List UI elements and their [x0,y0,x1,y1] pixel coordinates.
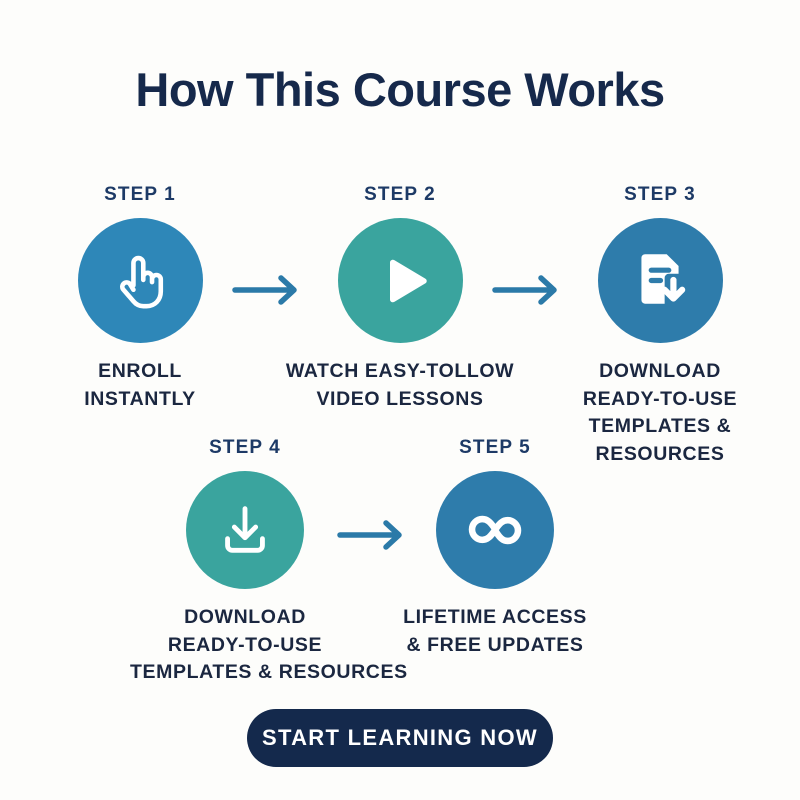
caption-line: ENROLL [25,358,255,386]
caption-line: TEMPLATES & RESOURCES [130,659,360,687]
step-caption-5: LIFETIME ACCESS & FREE UPDATES [380,604,610,659]
step-caption-1: ENROLL INSTANTLY [25,358,255,413]
step-label-3: STEP 3 [545,184,775,206]
step-label-1: STEP 1 [25,184,255,206]
step-label-2: STEP 2 [285,184,515,206]
caption-line: WATCH EASY-TOLLOW [285,358,515,386]
step-caption-2: WATCH EASY-TOLLOW VIDEO LESSONS [285,358,515,413]
page-title: How This Course Works [0,62,800,117]
step-caption-4: DOWNLOAD READY-TO-USE TEMPLATES & RESOUR… [130,604,360,687]
step-item-1: STEP 1 ENROLL INSTANTLY [25,184,255,413]
infinity-icon [460,495,530,565]
caption-line: VIDEO LESSONS [285,386,515,414]
infographic-canvas: How This Course Works STEP 1 ENROLL INST… [0,0,800,800]
step-label-5: STEP 5 [380,437,610,459]
step-item-5: STEP 5 LIFETIME ACCESS & FREE UPDATES [380,437,610,659]
arrow-step4-to-step5 [336,518,414,552]
caption-line: INSTANTLY [25,386,255,414]
play-icon [368,249,432,313]
caption-line: & FREE UPDATES [380,632,610,660]
arrow-step2-to-step3 [491,273,569,307]
caption-line: DOWNLOAD [130,604,360,632]
arrow-step1-to-step2 [231,273,309,307]
step-item-4: STEP 4 DOWNLOAD READY-TO-USE TEMPLATES &… [130,437,360,687]
caption-line: DOWNLOAD [545,358,775,386]
step-label-4: STEP 4 [130,437,360,459]
caption-line: LIFETIME ACCESS [380,604,610,632]
caption-line: READY-TO-USE [130,632,360,660]
step-item-2: STEP 2 WATCH EASY-TOLLOW VIDEO LESSONS [285,184,515,413]
download-tray-icon [214,499,276,561]
step-icon-circle-3 [598,218,723,343]
step-icon-circle-1 [78,218,203,343]
caption-line: READY-TO-USE [545,386,775,414]
step-icon-circle-4 [186,471,304,589]
start-learning-now-button[interactable]: START LEARNING NOW [247,709,553,767]
step-icon-circle-5 [436,471,554,589]
pointing-hand-icon [105,246,175,316]
document-download-icon [627,248,693,314]
step-icon-circle-2 [338,218,463,343]
step-item-3: STEP 3 DOWNLOAD READY-TO-USE TEMPLATES &… [545,184,775,469]
